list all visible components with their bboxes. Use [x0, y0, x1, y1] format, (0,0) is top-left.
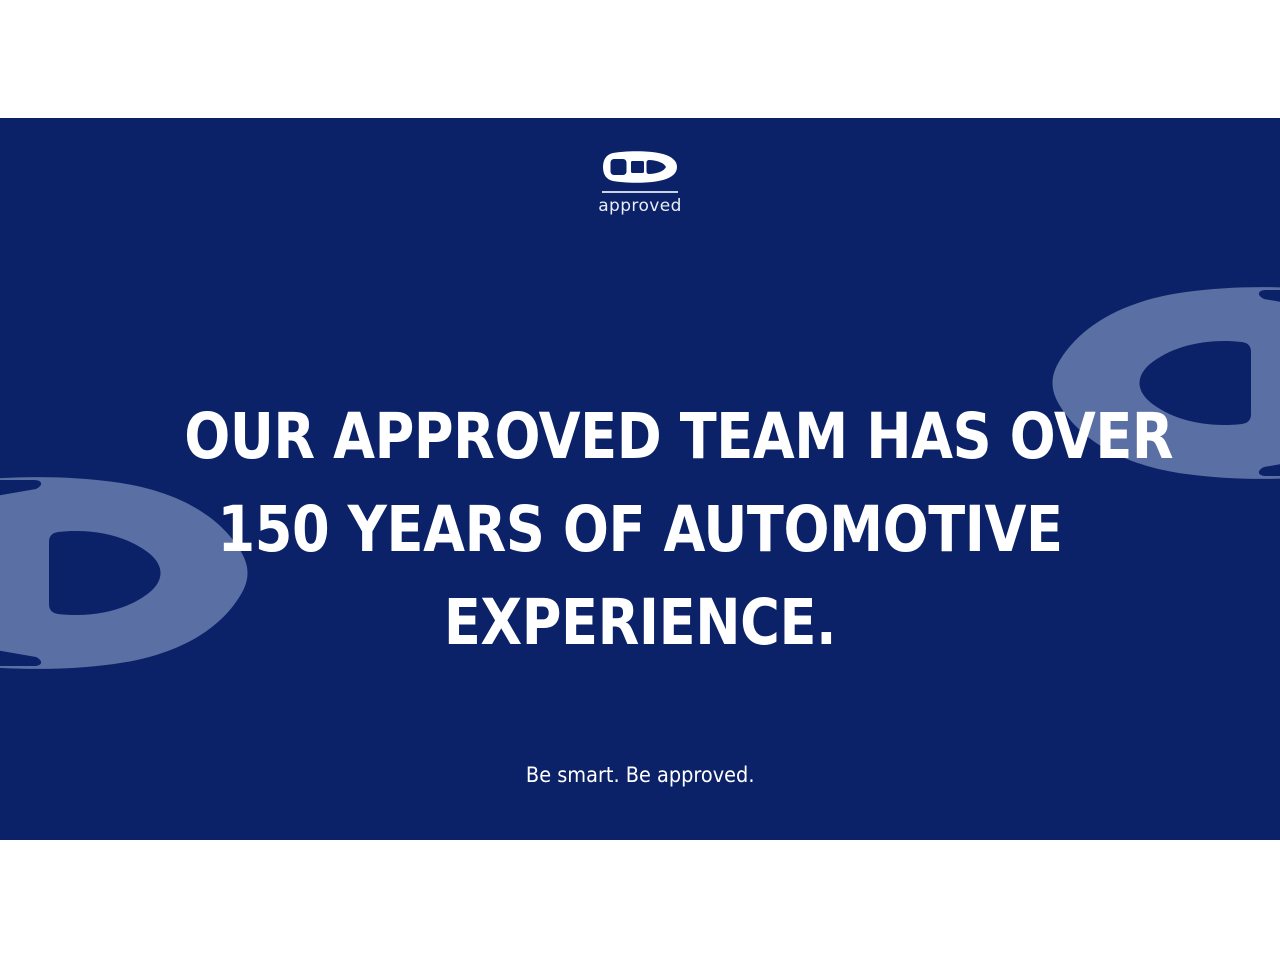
headline: OUR APPROVED TEAM HAS OVER 150 YEARS OF …	[110, 390, 1170, 669]
hero-banner: approved OUR APPROVED TEAM HAS OVER 150 …	[0, 118, 1280, 840]
tagline: Be smart. Be approved.	[0, 763, 1280, 787]
headline-line-3: EXPERIENCE.	[184, 576, 1096, 669]
headline-line-2: 150 YEARS OF AUTOMOTIVE	[184, 483, 1096, 576]
headline-line-1: OUR APPROVED TEAM HAS OVER	[184, 390, 1096, 483]
tagline-text: Be smart. Be approved.	[526, 763, 755, 787]
car-top-view-icon	[602, 150, 678, 184]
page-root: approved OUR APPROVED TEAM HAS OVER 150 …	[0, 0, 1280, 960]
brand-logo-lockup: approved	[0, 150, 1280, 215]
logo-divider-rule	[602, 191, 678, 193]
logo-wordmark: approved	[598, 198, 682, 215]
